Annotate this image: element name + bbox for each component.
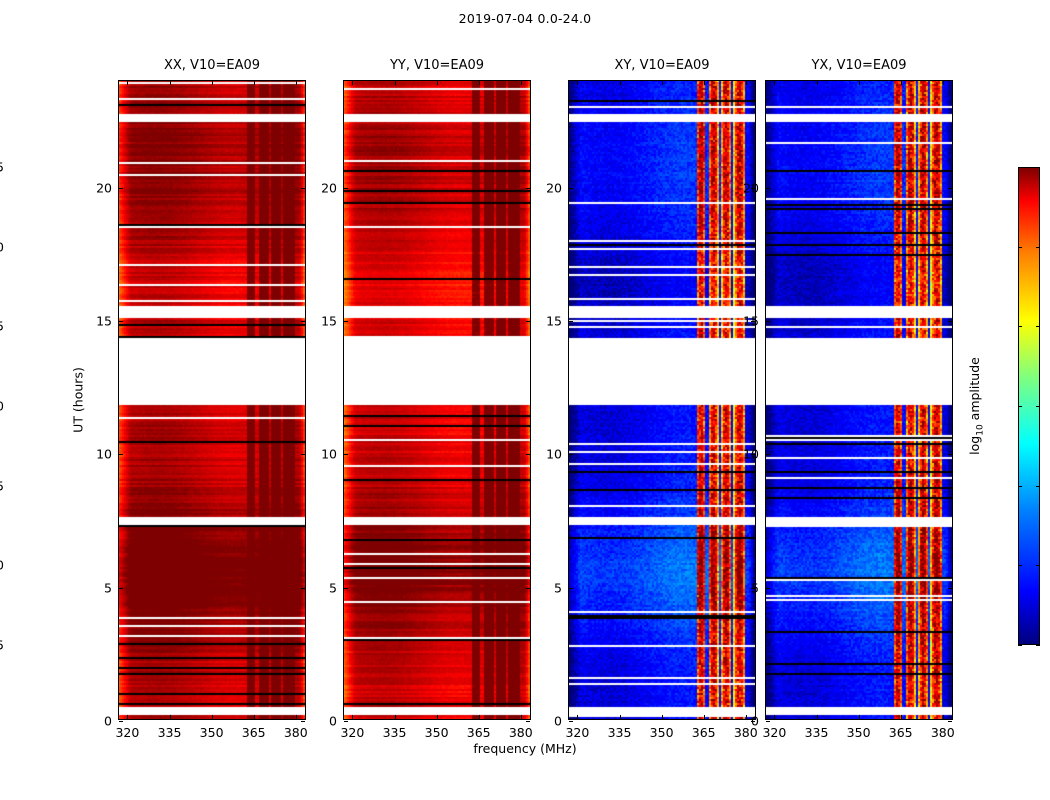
x-tick-yx-380 — [943, 81, 944, 85]
y-tick-xx-20 — [301, 188, 305, 189]
colorbar-tick-label--2.5: -2.5 — [0, 638, 4, 653]
y-tick-yx-10 — [948, 454, 952, 455]
colorbar-tick-label--0.5: -0.5 — [0, 319, 4, 334]
colorbar-tick--2.0 — [1036, 565, 1040, 566]
y-tick-label-yy-10: 10 — [321, 447, 344, 462]
x-tick-label-xy-365: 365 — [692, 725, 716, 740]
y-tick-xy-0 — [569, 721, 573, 722]
y-tick-label-yx-20: 20 — [743, 180, 766, 195]
colorbar-tick--2.5 — [1036, 645, 1040, 646]
x-tick-xx-380 — [296, 715, 297, 719]
y-tick-label-yy-15: 15 — [321, 314, 344, 329]
x-tick-xx-365 — [254, 81, 255, 85]
x-tick-xy-350 — [662, 81, 663, 85]
x-tick-label-yy-320: 320 — [340, 725, 364, 740]
panel-yy[interactable]: YY, V10=EA0932033535036538005101520 — [343, 80, 531, 720]
y-tick-label-xy-15: 15 — [546, 314, 569, 329]
y-tick-yy-15 — [344, 321, 348, 322]
x-axis-label: frequency (MHz) — [0, 741, 1050, 756]
y-tick-label-yx-15: 15 — [743, 314, 766, 329]
y-tick-label-xy-20: 20 — [546, 180, 569, 195]
y-tick-label-xy-5: 5 — [554, 580, 569, 595]
y-tick-yx-20 — [948, 188, 952, 189]
x-tick-xy-380 — [746, 715, 747, 719]
panel-title-xx: XX, V10=EA09 — [119, 58, 305, 73]
y-tick-xx-10 — [119, 454, 123, 455]
panel-title-yy: YY, V10=EA09 — [344, 58, 530, 73]
x-tick-xx-380 — [296, 81, 297, 85]
colorbar-tick-0.5 — [1036, 167, 1040, 168]
x-tick-label-xy-335: 335 — [608, 725, 632, 740]
colorbar-tick-0.5 — [1018, 167, 1022, 168]
y-tick-label-yx-5: 5 — [751, 580, 766, 595]
colorbar-tick--1.0 — [1018, 406, 1022, 407]
y-tick-yy-5 — [344, 588, 348, 589]
x-tick-xx-350 — [212, 715, 213, 719]
x-tick-yx-365 — [901, 81, 902, 85]
y-tick-yy-10 — [526, 454, 530, 455]
x-tick-yy-380 — [521, 81, 522, 85]
y-tick-label-xy-0: 0 — [554, 714, 569, 729]
x-tick-xy-365 — [704, 81, 705, 85]
heatmap-xx[interactable] — [119, 81, 305, 719]
x-tick-xx-350 — [212, 81, 213, 85]
x-tick-label-xy-350: 350 — [650, 725, 674, 740]
x-tick-label-xx-320: 320 — [115, 725, 139, 740]
y-tick-yx-0 — [766, 721, 770, 722]
y-tick-xx-15 — [301, 321, 305, 322]
colorbar-tick-0.0 — [1018, 247, 1022, 248]
x-tick-yy-350 — [437, 715, 438, 719]
x-tick-yy-335 — [395, 715, 396, 719]
x-tick-xy-350 — [662, 715, 663, 719]
y-tick-label-yx-10: 10 — [743, 447, 766, 462]
y-tick-label-yy-5: 5 — [329, 580, 344, 595]
y-tick-xx-5 — [119, 588, 123, 589]
y-tick-yx-0 — [948, 721, 952, 722]
y-tick-yy-5 — [526, 588, 530, 589]
y-tick-yy-0 — [344, 721, 348, 722]
x-tick-xy-320 — [577, 715, 578, 719]
heatmap-canvas-xy — [569, 81, 755, 719]
y-tick-label-yy-20: 20 — [321, 180, 344, 195]
x-tick-label-yx-365: 365 — [889, 725, 913, 740]
colorbar-tick-label-0.0: 0.0 — [0, 239, 4, 254]
x-tick-label-yx-320: 320 — [762, 725, 786, 740]
y-tick-yx-10 — [766, 454, 770, 455]
x-tick-label-yx-335: 335 — [805, 725, 829, 740]
x-tick-xy-380 — [746, 81, 747, 85]
x-tick-yx-350 — [859, 81, 860, 85]
x-tick-yx-365 — [901, 715, 902, 719]
x-tick-xx-320 — [127, 715, 128, 719]
y-tick-yy-10 — [344, 454, 348, 455]
panel-yx[interactable]: YX, V10=EA0932033535036538005101520 — [765, 80, 953, 720]
y-tick-yx-5 — [766, 588, 770, 589]
heatmap-yy[interactable] — [344, 81, 530, 719]
x-tick-label-xx-350: 350 — [200, 725, 224, 740]
colorbar-tick--0.5 — [1018, 326, 1022, 327]
x-tick-label-yy-335: 335 — [383, 725, 407, 740]
x-tick-xy-335 — [620, 715, 621, 719]
y-tick-label-xx-15: 15 — [96, 314, 119, 329]
y-tick-label-xx-10: 10 — [96, 447, 119, 462]
x-tick-label-xx-335: 335 — [158, 725, 182, 740]
heatmap-yx[interactable] — [766, 81, 952, 719]
y-tick-yx-5 — [948, 588, 952, 589]
colorbar-tick--1.0 — [1036, 406, 1040, 407]
colorbar-tick-label--1.0: -1.0 — [0, 399, 4, 414]
y-tick-yy-15 — [526, 321, 530, 322]
x-tick-yy-380 — [521, 715, 522, 719]
x-tick-xx-335 — [170, 715, 171, 719]
panel-xy[interactable]: XY, V10=EA0932033535036538005101520 — [568, 80, 756, 720]
x-tick-yy-350 — [437, 81, 438, 85]
x-tick-yx-350 — [859, 715, 860, 719]
y-tick-xx-15 — [119, 321, 123, 322]
colorbar-tick--2.0 — [1018, 565, 1022, 566]
y-tick-yx-20 — [766, 188, 770, 189]
x-tick-xy-335 — [620, 81, 621, 85]
figure-canvas: 2019-07-04 0.0-24.0 XX, V10=EA0932033535… — [0, 0, 1050, 800]
y-tick-label-yy-0: 0 — [329, 714, 344, 729]
y-tick-label-yx-0: 0 — [751, 714, 766, 729]
x-tick-yx-335 — [817, 81, 818, 85]
y-tick-yy-20 — [526, 188, 530, 189]
x-tick-label-xx-365: 365 — [242, 725, 266, 740]
x-tick-yy-335 — [395, 81, 396, 85]
x-tick-yx-380 — [943, 715, 944, 719]
colorbar-label: log10 amplitude — [967, 357, 986, 455]
colorbar-tick-label--1.5: -1.5 — [0, 478, 4, 493]
y-tick-xy-10 — [569, 454, 573, 455]
x-tick-xx-320 — [127, 81, 128, 85]
y-tick-xy-5 — [569, 588, 573, 589]
x-tick-label-yx-350: 350 — [847, 725, 871, 740]
x-tick-yy-365 — [479, 81, 480, 85]
colorbar-tick-label-0.5: 0.5 — [0, 160, 4, 175]
panel-title-xy: XY, V10=EA09 — [569, 58, 755, 73]
y-tick-xx-10 — [301, 454, 305, 455]
heatmap-canvas-xx — [119, 81, 305, 719]
x-tick-label-yy-365: 365 — [467, 725, 491, 740]
x-tick-yx-320 — [774, 81, 775, 85]
x-tick-yx-335 — [817, 715, 818, 719]
heatmap-canvas-yy — [344, 81, 530, 719]
x-tick-yy-320 — [352, 81, 353, 85]
y-tick-yx-15 — [766, 321, 770, 322]
figure-suptitle: 2019-07-04 0.0-24.0 — [0, 11, 1050, 26]
x-tick-label-yx-380: 380 — [931, 725, 955, 740]
y-tick-xx-0 — [301, 721, 305, 722]
y-tick-xx-5 — [301, 588, 305, 589]
y-tick-xx-20 — [119, 188, 123, 189]
colorbar-tick--2.5 — [1018, 645, 1022, 646]
x-tick-xy-320 — [577, 81, 578, 85]
heatmap-canvas-yx — [766, 81, 952, 719]
colorbar-tick--1.5 — [1018, 486, 1022, 487]
colorbar-tick--1.5 — [1036, 486, 1040, 487]
panel-xx[interactable]: XX, V10=EA0932033535036538005101520 — [118, 80, 306, 720]
y-tick-label-xx-0: 0 — [104, 714, 119, 729]
y-tick-xy-20 — [569, 188, 573, 189]
y-tick-xx-0 — [119, 721, 123, 722]
x-tick-yx-320 — [774, 715, 775, 719]
y-tick-xy-15 — [569, 321, 573, 322]
x-tick-yy-365 — [479, 715, 480, 719]
y-tick-yy-20 — [344, 188, 348, 189]
x-tick-label-xx-380: 380 — [284, 725, 308, 740]
x-tick-label-xy-320: 320 — [565, 725, 589, 740]
x-tick-xx-335 — [170, 81, 171, 85]
x-tick-xy-365 — [704, 715, 705, 719]
heatmap-xy[interactable] — [569, 81, 755, 719]
panel-title-yx: YX, V10=EA09 — [766, 58, 952, 73]
y-tick-label-xy-10: 10 — [546, 447, 569, 462]
y-tick-yx-15 — [948, 321, 952, 322]
x-tick-label-yy-350: 350 — [425, 725, 449, 740]
colorbar-tick-label--2.0: -2.0 — [0, 558, 4, 573]
x-tick-xx-365 — [254, 715, 255, 719]
colorbar-tick--0.5 — [1036, 326, 1040, 327]
y-axis-label: UT (hours) — [71, 367, 86, 433]
y-tick-yy-0 — [526, 721, 530, 722]
y-tick-label-xx-20: 20 — [96, 180, 119, 195]
colorbar-tick-0.0 — [1036, 247, 1040, 248]
x-tick-yy-320 — [352, 715, 353, 719]
y-tick-label-xx-5: 5 — [104, 580, 119, 595]
x-tick-label-yy-380: 380 — [509, 725, 533, 740]
